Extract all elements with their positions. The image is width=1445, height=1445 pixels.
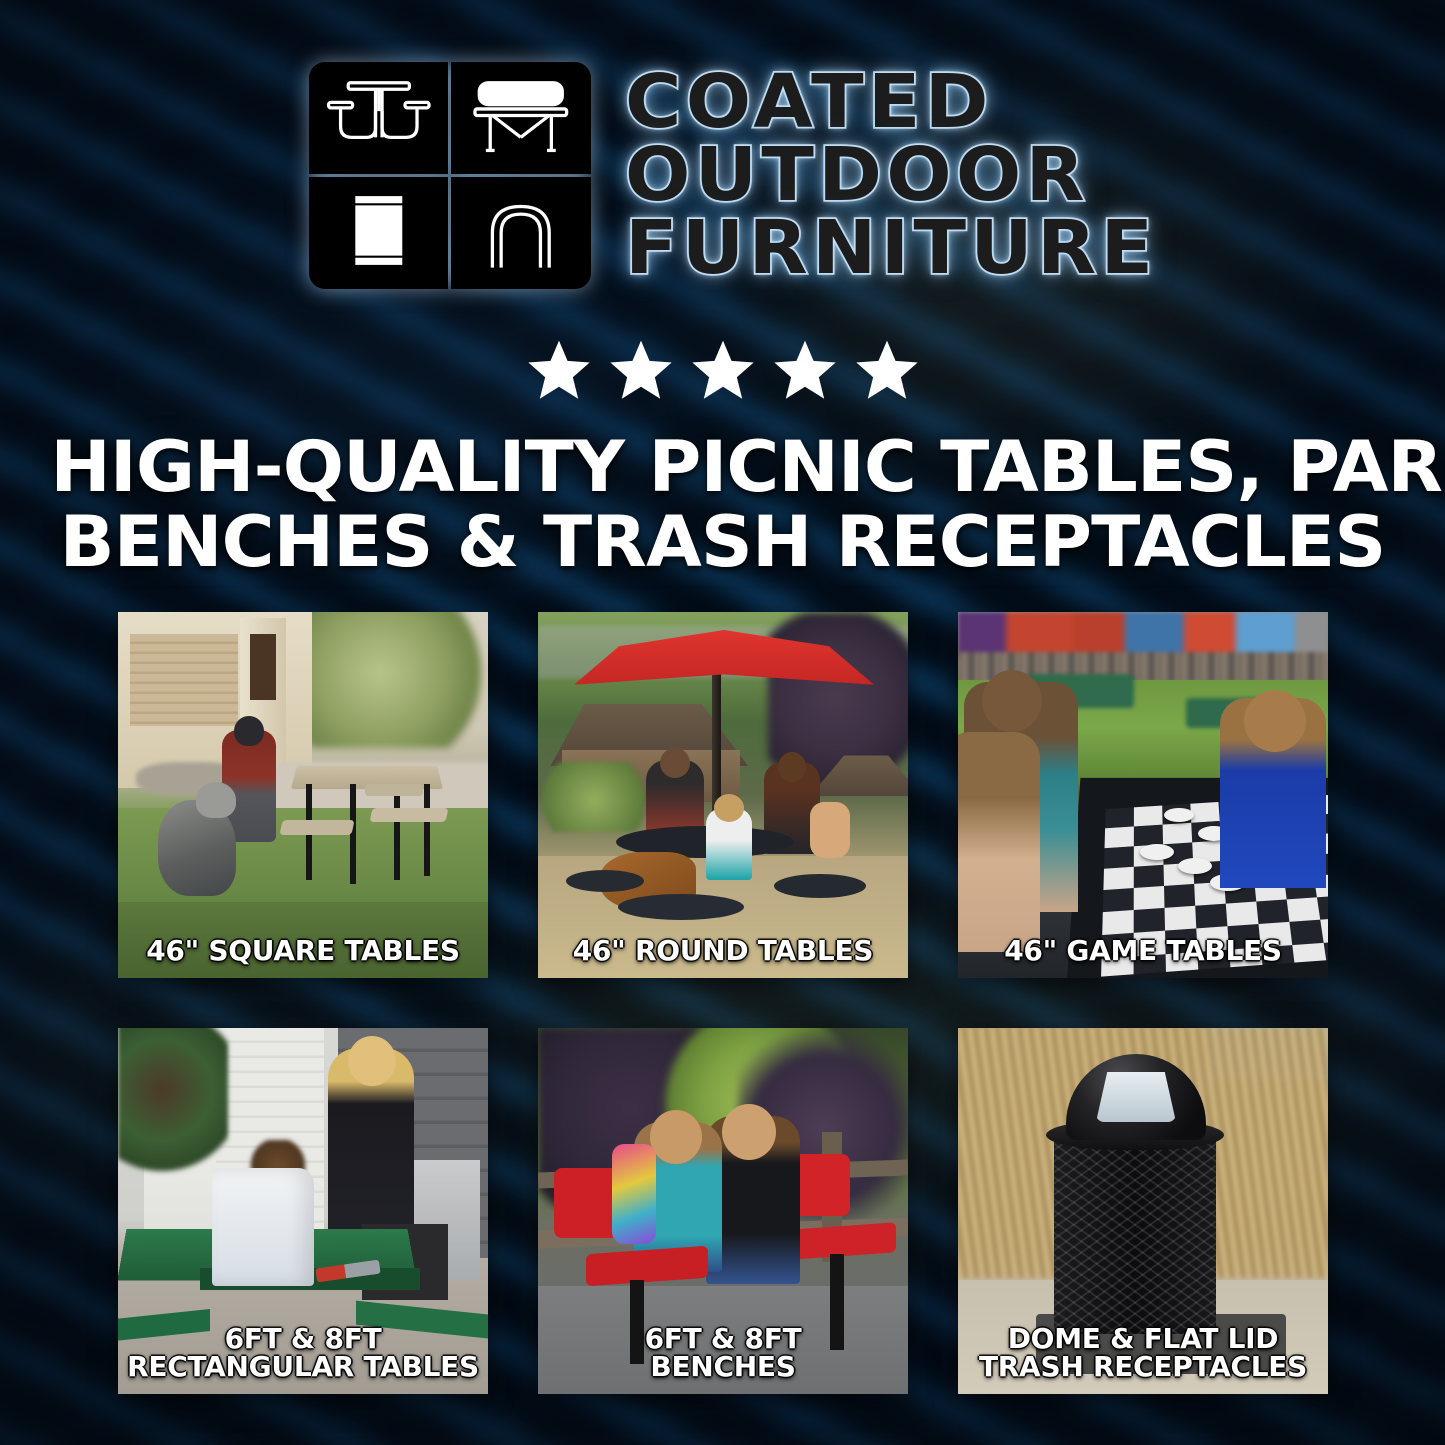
product-tile-benches[interactable]: 6FT & 8FT BENCHES: [538, 1028, 908, 1394]
product-caption-round-tables: 46" ROUND TABLES: [544, 937, 902, 966]
caption-line-2: BENCHES: [544, 1353, 902, 1382]
star-icon: [772, 338, 838, 402]
trash-receptacle-icon: [309, 177, 449, 289]
bike-rack-icon: [451, 177, 591, 289]
wordmark-line-3: FURNITURE: [625, 213, 1157, 284]
brand-logo-mark: [309, 62, 591, 289]
caption-line-1: 46" GAME TABLES: [964, 937, 1322, 966]
product-caption-square-tables: 46" SQUARE TABLES: [124, 937, 482, 966]
star-rating: [0, 338, 1445, 402]
headline-line-2: BENCHES & TRASH RECEPTACLES: [50, 505, 1394, 580]
product-tile-game-tables[interactable]: 46" GAME TABLES: [958, 612, 1328, 978]
product-photo-round-tables: [538, 612, 908, 978]
headline: HIGH-QUALITY PICNIC TABLES, PARK BENCHES…: [50, 430, 1394, 580]
product-caption-game-tables: 46" GAME TABLES: [964, 937, 1322, 966]
picnic-table-icon: [309, 62, 449, 174]
product-caption-trash-receptacles: DOME & FLAT LID TRASH RECEPTACLES: [964, 1325, 1322, 1382]
star-icon: [854, 338, 920, 402]
product-tile-rectangular-tables[interactable]: 6FT & 8FT RECTANGULAR TABLES: [118, 1028, 488, 1394]
star-icon: [526, 338, 592, 402]
product-tile-square-tables[interactable]: 46" SQUARE TABLES: [118, 612, 488, 978]
headline-line-1: HIGH-QUALITY PICNIC TABLES, PARK: [50, 430, 1394, 505]
brand-wordmark: COATED OUTDOOR FURNITURE: [625, 67, 1137, 284]
product-photo-square-tables: [118, 612, 488, 978]
product-caption-rectangular-tables: 6FT & 8FT RECTANGULAR TABLES: [124, 1325, 482, 1382]
product-grid: 46" SQUARE TABLES: [118, 612, 1328, 1394]
product-tile-trash-receptacles[interactable]: DOME & FLAT LID TRASH RECEPTACLES: [958, 1028, 1328, 1394]
promo-poster: COATED OUTDOOR FURNITURE HIGH-QUALITY PI…: [0, 0, 1445, 1445]
bench-table-icon: [451, 62, 591, 174]
product-tile-round-tables[interactable]: 46" ROUND TABLES: [538, 612, 908, 978]
caption-line-2: TRASH RECEPTACLES: [964, 1353, 1322, 1382]
brand-logo-row: COATED OUTDOOR FURNITURE: [0, 62, 1445, 289]
wordmark-line-2: OUTDOOR: [625, 140, 1157, 211]
star-icon: [690, 338, 756, 402]
product-photo-game-tables: [958, 612, 1328, 978]
caption-line-1: 46" SQUARE TABLES: [124, 937, 482, 966]
wordmark-line-1: COATED: [625, 67, 1157, 138]
product-caption-benches: 6FT & 8FT BENCHES: [544, 1325, 902, 1382]
caption-line-1: 46" ROUND TABLES: [544, 937, 902, 966]
caption-line-2: RECTANGULAR TABLES: [124, 1353, 482, 1382]
star-icon: [608, 338, 674, 402]
